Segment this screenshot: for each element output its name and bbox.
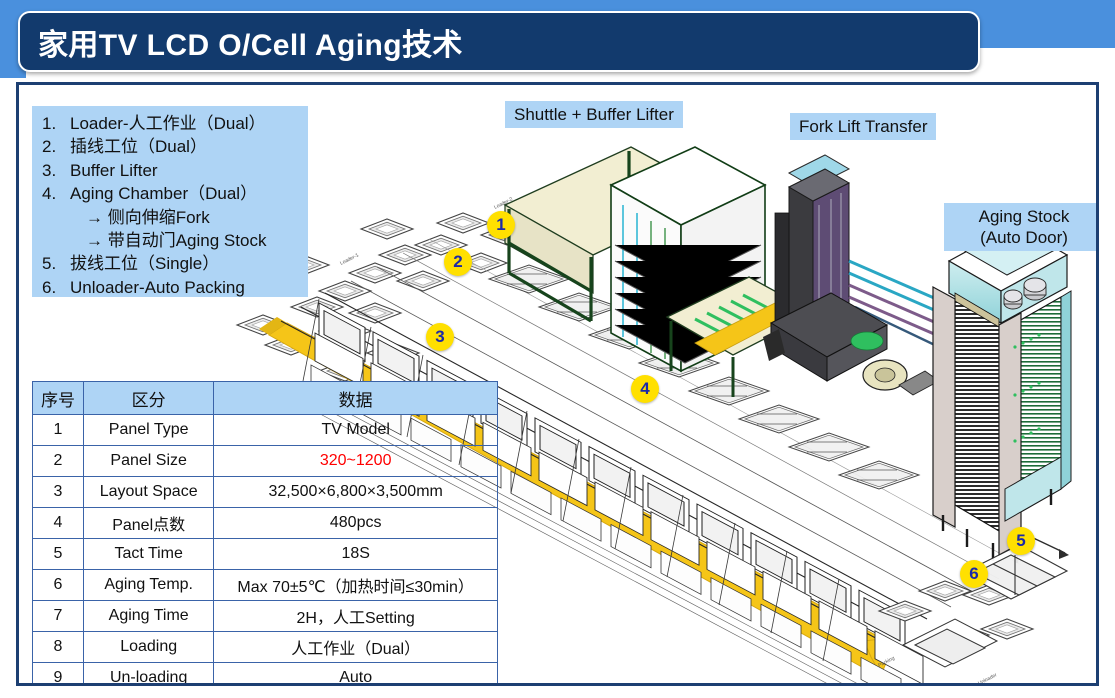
svg-text:Unloader: Unloader: [977, 672, 998, 686]
callout-bubble-1: 1: [487, 211, 515, 239]
cell-kind: Layout Space: [84, 477, 214, 508]
cell-data: 320~1200: [214, 446, 498, 477]
callout-bubble-5: 5: [1007, 527, 1035, 555]
cell-kind: Panel Type: [84, 415, 214, 446]
table-row: 8 Loading 人工作业（Dual）: [33, 632, 498, 663]
list-item-label: Buffer Lifter: [70, 159, 158, 182]
cell-data: Auto: [214, 663, 498, 687]
column-header-data: 数据: [214, 382, 498, 415]
label-shuttle-buffer-lifter: Shuttle + Buffer Lifter: [505, 101, 683, 128]
list-item-number: 4.: [42, 182, 70, 205]
slide-title-bar: 家用TV LCD O/Cell Aging技术: [18, 11, 980, 72]
cell-kind: Aging Time: [84, 601, 214, 632]
list-item-number: 3.: [42, 159, 70, 182]
cell-data: 人工作业（Dual）: [214, 632, 498, 663]
list-item-label: Aging Chamber（Dual）: [70, 182, 257, 205]
list-item-label: 拔线工位（Single）: [70, 252, 219, 275]
cell-kind: Un-loading: [84, 663, 214, 687]
cell-no: 8: [33, 632, 84, 663]
cell-data: TV Model: [214, 415, 498, 446]
callout-bubble-2: 2: [444, 248, 472, 276]
cell-kind: Tact Time: [84, 539, 214, 570]
list-item: 2. 插线工位（Dual）: [42, 135, 304, 158]
cell-kind: Panel Size: [84, 446, 214, 477]
cell-data: 480pcs: [214, 508, 498, 539]
cell-kind: Panel点数: [84, 508, 214, 539]
cell-data: 18S: [214, 539, 498, 570]
cell-data: 32,500×6,800×3,500mm: [214, 477, 498, 508]
process-list-box: 1. Loader-人工作业（Dual） 2. 插线工位（Dual） 3. Bu…: [32, 106, 308, 297]
slide-content-frame: Loader-1 Loader-2: [16, 82, 1099, 686]
list-subitem: → 侧向伸缩Fork: [42, 206, 304, 229]
cell-no: 4: [33, 508, 84, 539]
cell-no: 7: [33, 601, 84, 632]
table-row: 5 Tact Time 18S: [33, 539, 498, 570]
list-subitem: → 带自动门Aging Stock: [42, 229, 304, 252]
list-item-number: 5.: [42, 252, 70, 275]
list-item: 1. Loader-人工作业（Dual）: [42, 112, 304, 135]
svg-text:Loader-2: Loader-2: [493, 196, 514, 211]
list-item-label: Loader-人工作业（Dual）: [70, 112, 266, 135]
list-item: 3. Buffer Lifter: [42, 159, 304, 182]
callout-bubble-4: 4: [631, 375, 659, 403]
label-fork-lift-transfer: Fork Lift Transfer: [790, 113, 936, 140]
table-row: 6 Aging Temp. Max 70±5℃（加热时间≤30min）: [33, 570, 498, 601]
table-row: 3 Layout Space 32,500×6,800×3,500mm: [33, 477, 498, 508]
page-title: 家用TV LCD O/Cell Aging技术: [38, 20, 463, 64]
cell-no: 9: [33, 663, 84, 687]
list-item-number: 1.: [42, 112, 70, 135]
list-item-number: 6.: [42, 276, 70, 299]
table-row: 2 Panel Size 320~1200: [33, 446, 498, 477]
cell-data: Max 70±5℃（加热时间≤30min）: [214, 570, 498, 601]
column-header-no: 序号: [33, 382, 84, 415]
list-item-label: 插线工位（Dual）: [70, 135, 207, 158]
table-row: 9 Un-loading Auto: [33, 663, 498, 687]
list-item-number: 2.: [42, 135, 70, 158]
table-row: 1 Panel Type TV Model: [33, 415, 498, 446]
cell-data: 2H，人工Setting: [214, 601, 498, 632]
list-item: 5. 拔线工位（Single）: [42, 252, 304, 275]
cell-no: 3: [33, 477, 84, 508]
cell-kind: Loading: [84, 632, 214, 663]
cell-no: 2: [33, 446, 84, 477]
cell-no: 6: [33, 570, 84, 601]
cell-no: 5: [33, 539, 84, 570]
list-item: 6. Unloader-Auto Packing: [42, 276, 304, 299]
callout-bubble-6: 6: [960, 560, 988, 588]
list-item: 4. Aging Chamber（Dual）: [42, 182, 304, 205]
table-header-row: 序号 区分 数据: [33, 382, 498, 415]
list-item-label: Unloader-Auto Packing: [70, 276, 245, 299]
column-header-kind: 区分: [84, 382, 214, 415]
callout-bubble-3: 3: [426, 323, 454, 351]
svg-text:Packing: Packing: [877, 655, 896, 669]
spec-table: 序号 区分 数据 1 Panel Type TV Model 2 Panel S…: [32, 381, 498, 686]
label-aging-stock: Aging Stock (Auto Door): [944, 203, 1099, 251]
svg-text:Loader-1: Loader-1: [339, 252, 360, 267]
cell-kind: Aging Temp.: [84, 570, 214, 601]
cell-no: 1: [33, 415, 84, 446]
table-row: 4 Panel点数 480pcs: [33, 508, 498, 539]
table-row: 7 Aging Time 2H，人工Setting: [33, 601, 498, 632]
